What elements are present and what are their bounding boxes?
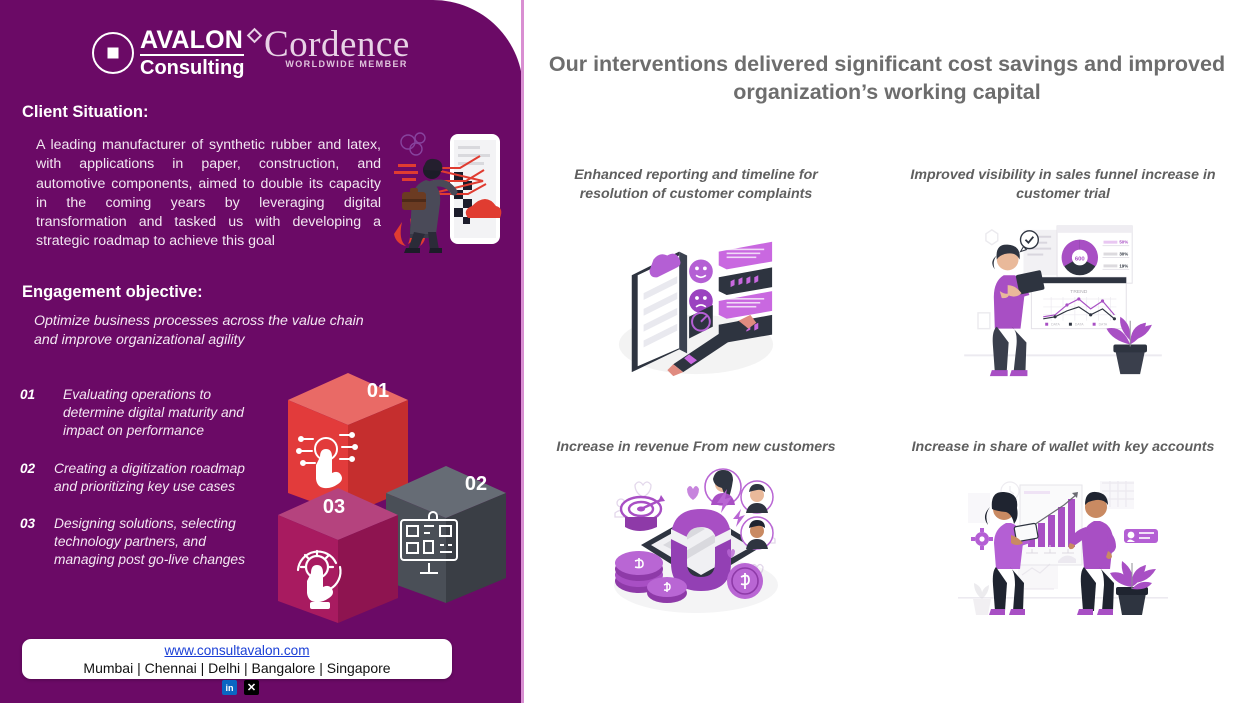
right-content-section: Our interventions delivered significant … [523,0,1250,703]
avalon-consulting-logo: AVALON Consulting [92,28,244,78]
svg-text:19%: 19% [1119,263,1128,268]
outcome-card-3: Increase in share of wallet with key acc… [908,438,1218,619]
isometric-cubes-graphic: 01 02 [268,365,518,623]
engagement-steps-list: 01 Evaluating operations to determine di… [20,386,270,589]
cube-03: 03 [278,488,398,623]
client-situation-heading: Client Situation: [22,103,149,122]
website-link[interactable]: www.consultavalon.com [164,642,309,659]
digital-transformation-person-phone-illustration [388,126,508,256]
step-number: 03 [20,515,44,570]
svg-text:600: 600 [1075,256,1086,262]
avalon-name: AVALON [140,28,244,56]
svg-text:01: 01 [367,380,389,402]
avalon-tagline: Consulting [140,56,244,78]
svg-text:DATA: DATA [1051,323,1060,327]
step-text: Evaluating operations to determine digit… [54,386,270,441]
step-text: Designing solutions, selecting technolog… [54,515,270,570]
svg-text:03: 03 [323,496,345,518]
svg-text:50%: 50% [1119,240,1128,245]
badge [1124,529,1158,543]
left-purple-panel: AVALON Consulting Cordence WORLDWIDE MEM… [0,0,523,703]
step-number: 02 [20,460,44,496]
outcome-caption: Improved visibility in sales funnel incr… [908,166,1218,204]
survey-feedback-clipboard-illustration [541,216,851,384]
office-cities: Mumbai | Chennai | Delhi | Bangalore | S… [83,659,390,677]
engagement-objective-heading: Engagement objective: [22,283,203,302]
list-item: 02 Creating a digitization roadmap and p… [20,460,270,496]
magnet-customer-attraction-illustration [541,467,851,619]
cordence-name: Cordence [247,26,410,63]
small-plant-left [973,583,991,615]
avalon-wordmark: AVALON Consulting [140,28,244,78]
outcome-caption: Increase in share of wallet with key acc… [908,438,1218,457]
svg-text:DATA: DATA [1075,323,1084,327]
svg-text:DATA: DATA [1099,323,1108,327]
svg-text:TREND: TREND [1070,289,1087,295]
analytics-dashboard-person-illustration: 600 50% 30% 19% TREND [908,216,1218,384]
step-number: 01 [20,386,44,441]
growth-chart-presentation-illustration [908,467,1218,619]
svg-text:30%: 30% [1119,252,1128,257]
outcome-card-2: Increase in revenue From new customers [541,438,851,619]
engagement-objective-body: Optimize business processes across the v… [34,312,374,349]
logo-row: AVALON Consulting Cordence WORLDWIDE MEM… [92,26,442,82]
list-item: 03 Designing solutions, selecting techno… [20,515,270,570]
contact-footer-card: www.consultavalon.com Mumbai | Chennai |… [22,639,452,679]
outcome-caption: Increase in revenue From new customers [541,438,851,457]
cube-02: 02 [386,466,506,603]
social-links-row: in ✕ [222,680,259,695]
page-title: Our interventions delivered significant … [547,50,1227,106]
outcome-caption: Enhanced reporting and timeline for reso… [541,166,851,204]
linkedin-icon[interactable]: in [222,680,237,695]
target [621,495,665,531]
cordence-worldwide-logo: Cordence WORLDWIDE MEMBER [247,26,410,69]
outcome-card-1: Improved visibility in sales funnel incr… [908,166,1218,384]
plant [1110,561,1156,615]
outcome-card-0: Enhanced reporting and timeline for reso… [541,166,851,384]
step-text: Creating a digitization roadmap and prio… [54,460,270,496]
client-situation-body: A leading manufacturer of synthetic rubb… [36,136,381,252]
gear-decor [971,528,993,550]
list-item: 01 Evaluating operations to determine di… [20,386,270,441]
avalon-mark-icon [92,32,134,74]
panel-accent-edge [521,0,524,703]
svg-text:02: 02 [465,473,487,495]
x-twitter-icon[interactable]: ✕ [244,680,259,695]
